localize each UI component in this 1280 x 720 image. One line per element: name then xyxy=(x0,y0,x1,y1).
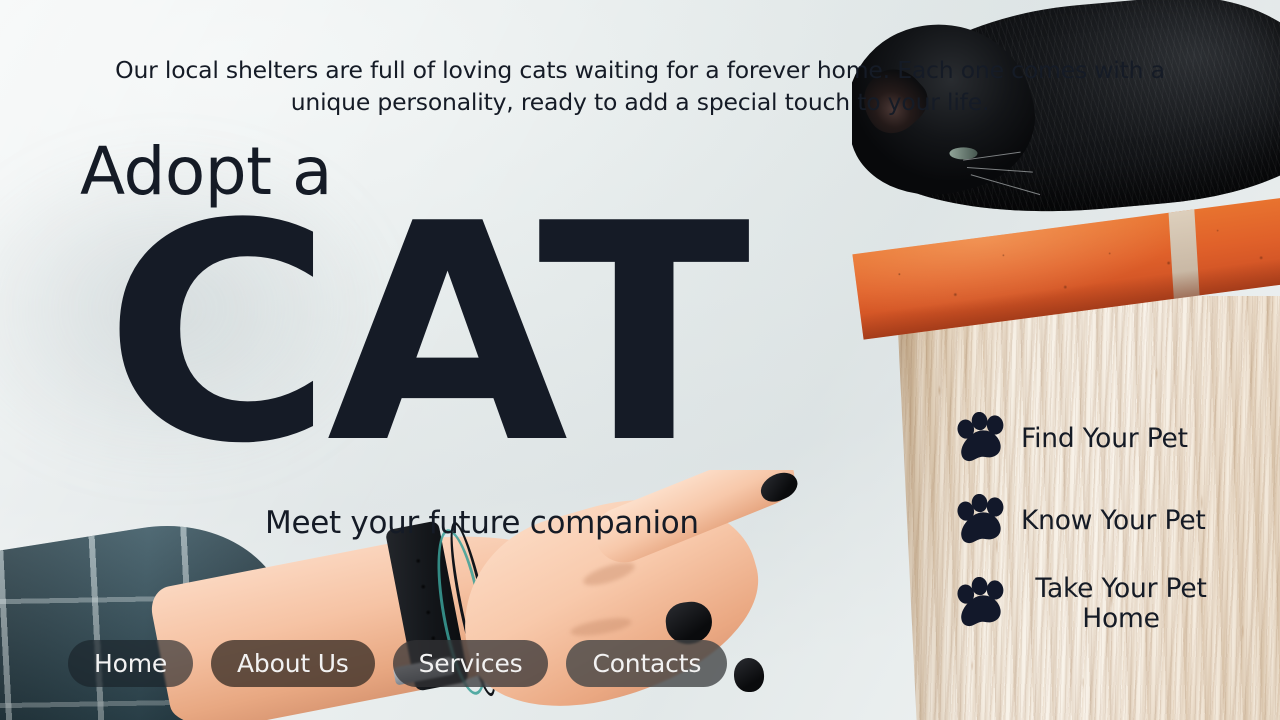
hero-headline: CAT xyxy=(104,210,744,460)
feature-item[interactable]: Know Your Pet xyxy=(955,492,1255,550)
feature-label: Know Your Pet xyxy=(1021,506,1206,536)
feature-item[interactable]: Find Your Pet xyxy=(955,410,1255,468)
paw-print-icon xyxy=(955,577,1011,631)
hero-tagline: Meet your future companion xyxy=(265,505,699,541)
feature-item[interactable]: Take Your Pet Home xyxy=(955,574,1255,634)
main-navigation: Home About Us Services Contacts xyxy=(68,640,727,687)
paw-print-icon xyxy=(955,412,1011,466)
nav-item-contacts[interactable]: Contacts xyxy=(566,640,727,687)
nav-item-about-us[interactable]: About Us xyxy=(211,640,375,687)
hero-poster: Our local shelters are full of loving ca… xyxy=(0,0,1280,720)
fingernail xyxy=(733,657,764,692)
hero-description: Our local shelters are full of loving ca… xyxy=(90,54,1190,118)
feature-list: Find Your Pet Know Your Pet xyxy=(955,410,1255,658)
feature-label: Find Your Pet xyxy=(1021,424,1188,454)
paw-print-icon xyxy=(955,494,1011,548)
nav-item-home[interactable]: Home xyxy=(68,640,193,687)
feature-label: Take Your Pet Home xyxy=(1021,574,1221,634)
nav-item-services[interactable]: Services xyxy=(393,640,549,687)
